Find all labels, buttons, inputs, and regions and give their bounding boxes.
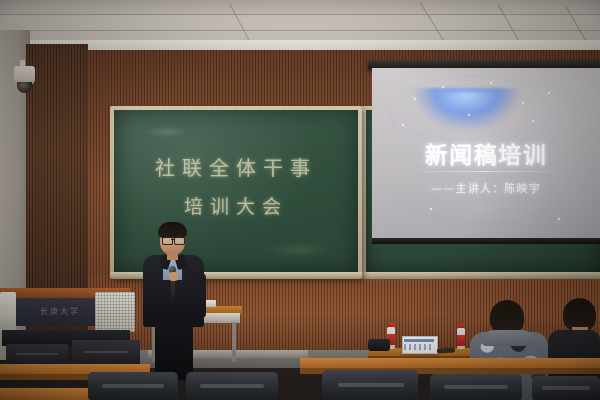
speaker-glasses-bridge [171,239,174,240]
projection-screen: 新闻稿培训 ——主讲人：陈映宇 [372,68,600,241]
slide-sparkle [532,120,534,122]
slide-sparkle [548,92,550,94]
slide-sparkle [468,114,470,116]
blackboard: 社联全体干事 培训大会 [114,110,358,272]
lecture-hall-photo: 社联全体干事 培训大会 新闻稿培训 ——主讲人：陈映宇 长庚大学 [0,0,600,400]
slide-divider [408,171,564,172]
speaker-hand [169,272,178,281]
monitor-riser [6,344,68,366]
chair [322,370,418,400]
blackboard-panel-right-tray [362,272,600,279]
slide-sparkle [414,98,416,100]
speaker-arm-right [186,272,206,318]
chair [186,372,278,400]
blackboard-text-line-2: 培训大会 [114,192,358,219]
lectern-speaker-left [0,292,16,334]
slide-sparkle [442,86,444,88]
chalk-smudge [264,242,334,258]
podium-leg-right [232,322,236,362]
slide-subtitle: ——主讲人：陈映宇 [372,180,600,196]
chair [88,372,178,400]
chair [532,376,600,400]
water-bottle-label [457,335,465,346]
desk-name-card-stripe [404,339,434,342]
microphone-body [171,278,175,300]
slide-sparkle [490,82,492,84]
desk-phone [437,348,455,354]
monitor-riser [72,340,140,366]
desk-bag [368,339,390,351]
speaker-hair [158,222,187,238]
speaker-glasses-right-lens [174,237,185,245]
attendee-hood [482,330,534,346]
blackboard-text-line-1: 社联全体干事 [114,152,358,181]
attendee-head [490,300,524,334]
desk-name-card-text [404,344,434,350]
slide-sparkle [558,218,560,220]
lectern-name-plate-text: 长庚大学 [14,306,106,317]
chalk-smudge [144,126,188,138]
chair [430,374,522,400]
slide-title: 新闻稿培训 [372,136,600,170]
projector-screen-weight-bar [372,238,600,244]
slide-sparkle [402,124,404,126]
slide-sparkle [430,208,432,210]
lectern-speaker-right [95,292,135,332]
slide-sparkle [522,102,524,104]
